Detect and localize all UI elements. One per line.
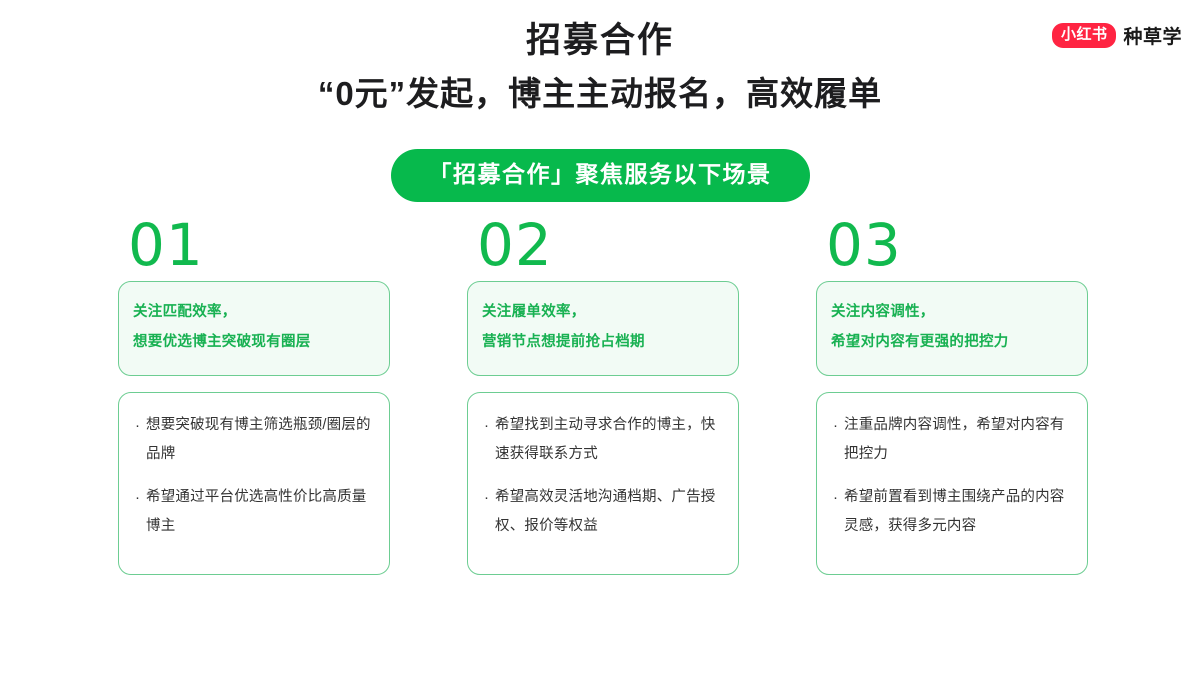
list-item-text: 注重品牌内容调性，希望对内容有把控力 <box>844 411 1073 469</box>
page-title: 招募合作 <box>0 18 1200 64</box>
column-number: 01 <box>128 218 390 273</box>
slide-root: 小红书 种草学 招募合作 “0元”发起，博主主动报名，高效履单 「招募合作」聚焦… <box>0 0 1200 675</box>
list-item-text: 希望找到主动寻求合作的博主，快速获得联系方式 <box>495 411 724 469</box>
column-body-card: · 想要突破现有博主筛选瓶颈/圈层的品牌 · 希望通过平台优选高性价比高质量博主 <box>118 392 390 575</box>
header-line: 希望对内容有更强的把控力 <box>831 328 1073 358</box>
list-item: · 希望前置看到博主围绕产品的内容灵感，获得多元内容 <box>833 483 1073 541</box>
list-item-text: 希望前置看到博主围绕产品的内容灵感，获得多元内容 <box>844 483 1073 541</box>
header-line: 营销节点想提前抢占档期 <box>482 328 724 358</box>
scenario-columns: 01 关注匹配效率， 想要优选博主突破现有圈层 · 想要突破现有博主筛选瓶颈/圈… <box>118 218 1088 575</box>
bullet-dot-icon: · <box>833 483 838 513</box>
column-header-card: 关注匹配效率， 想要优选博主突破现有圈层 <box>118 281 390 375</box>
header-line: 关注匹配效率， <box>133 298 375 328</box>
header-line: 关注内容调性， <box>831 298 1073 328</box>
scenario-column-1: 01 关注匹配效率， 想要优选博主突破现有圈层 · 想要突破现有博主筛选瓶颈/圈… <box>118 218 390 575</box>
header-line: 想要优选博主突破现有圈层 <box>133 328 375 358</box>
list-item: · 希望高效灵活地沟通档期、广告授权、报价等权益 <box>484 483 724 541</box>
scenario-column-3: 03 关注内容调性， 希望对内容有更强的把控力 · 注重品牌内容调性，希望对内容… <box>816 218 1088 575</box>
bullet-dot-icon: · <box>833 411 838 441</box>
page-subtitle: “0元”发起，博主主动报名，高效履单 <box>0 73 1200 116</box>
title-block: 招募合作 “0元”发起，博主主动报名，高效履单 <box>0 18 1200 115</box>
bullet-dot-icon: · <box>135 483 140 513</box>
section-banner: 「招募合作」聚焦服务以下场景 <box>391 149 810 202</box>
list-item: · 希望通过平台优选高性价比高质量博主 <box>135 483 375 541</box>
scenario-column-2: 02 关注履单效率， 营销节点想提前抢占档期 · 希望找到主动寻求合作的博主，快… <box>467 218 739 575</box>
bullet-dot-icon: · <box>135 411 140 441</box>
column-header-card: 关注内容调性， 希望对内容有更强的把控力 <box>816 281 1088 375</box>
banner-wrapper: 「招募合作」聚焦服务以下场景 <box>0 149 1200 202</box>
bullet-dot-icon: · <box>484 483 489 513</box>
column-body-card: · 希望找到主动寻求合作的博主，快速获得联系方式 · 希望高效灵活地沟通档期、广… <box>467 392 739 575</box>
list-item-text: 想要突破现有博主筛选瓶颈/圈层的品牌 <box>146 411 375 469</box>
list-item: · 希望找到主动寻求合作的博主，快速获得联系方式 <box>484 411 724 469</box>
list-item-text: 希望通过平台优选高性价比高质量博主 <box>146 483 375 541</box>
column-number: 03 <box>826 218 1088 273</box>
column-body-card: · 注重品牌内容调性，希望对内容有把控力 · 希望前置看到博主围绕产品的内容灵感… <box>816 392 1088 575</box>
list-item: · 注重品牌内容调性，希望对内容有把控力 <box>833 411 1073 469</box>
list-item-text: 希望高效灵活地沟通档期、广告授权、报价等权益 <box>495 483 724 541</box>
column-header-card: 关注履单效率， 营销节点想提前抢占档期 <box>467 281 739 375</box>
bullet-dot-icon: · <box>484 411 489 441</box>
header-line: 关注履单效率， <box>482 298 724 328</box>
list-item: · 想要突破现有博主筛选瓶颈/圈层的品牌 <box>135 411 375 469</box>
column-number: 02 <box>477 218 739 273</box>
